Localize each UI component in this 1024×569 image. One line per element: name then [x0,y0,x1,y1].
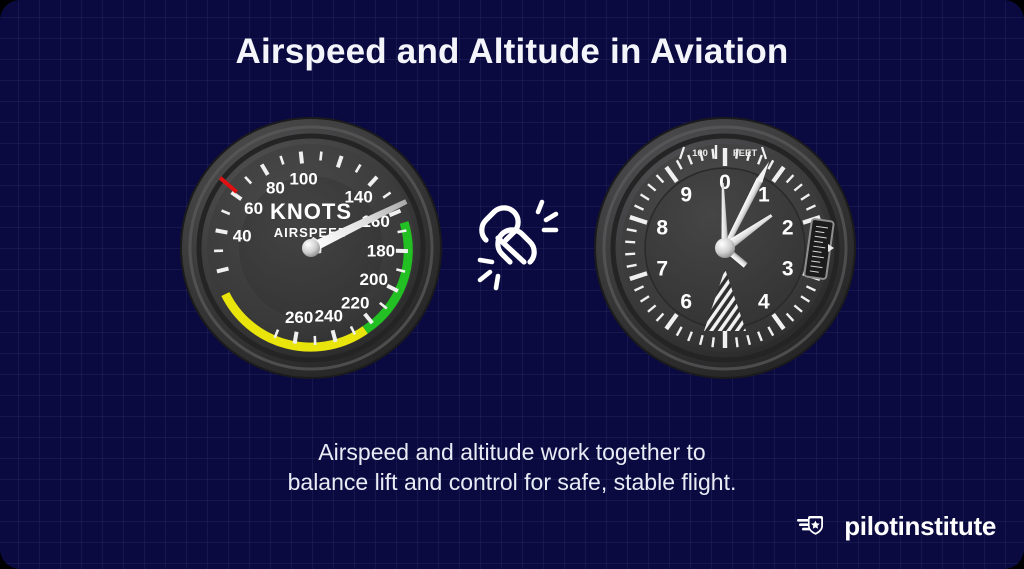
needle-hub [302,239,320,257]
caption-line-1: Airspeed and altitude work together to [0,437,1024,467]
asi-label-60: 60 [244,199,263,218]
alt-tick-24 [736,337,737,347]
caption: Airspeed and altitude work together to b… [0,437,1024,497]
tick-260 [295,332,297,344]
airspeed-indicator-gauge: 406080100140160180200220240260 KNOTS AIR… [180,117,442,379]
alt-label-8: 8 [656,217,668,240]
caption-line-2: balance lift and control for safe, stabl… [0,467,1024,497]
alt-tick-49 [712,149,713,159]
alt-label-0: 0 [719,171,731,194]
tick-170 [398,230,407,232]
asi-label-260: 260 [285,308,313,327]
alt-label-9: 9 [680,184,692,207]
asi-label-100: 100 [289,169,317,188]
alt-tick-37 [625,254,635,255]
asi-label-220: 220 [341,293,369,312]
alt-tick-38 [625,242,635,243]
asi-label-40: 40 [233,226,252,245]
unit-label-hundred: 100 [692,148,708,159]
tick-20 [217,269,229,272]
tick-100 [301,152,302,164]
altimeter-gauge: 0123456789 100 FEET [594,117,856,379]
page-title: Airspeed and Altitude in Aviation [0,32,1024,72]
asi-label-80: 80 [266,179,285,198]
alt-label-6: 6 [680,290,692,313]
broken-chain-link-icon [468,196,560,296]
alt-tick-26 [712,337,713,347]
asi-label-240: 240 [315,307,343,326]
alt-label-3: 3 [782,257,794,280]
asi-label-200: 200 [360,270,388,289]
alt-label-2: 2 [782,217,794,240]
tick-110 [320,152,321,161]
asi-label-180: 180 [367,241,395,260]
infographic-card: Airspeed and Altitude in Aviation [0,0,1024,569]
brand-logo: pilotinstitute [797,510,996,543]
unit-label-feet: FEET [733,148,757,159]
alt-label-4: 4 [758,290,770,313]
alt-label-7: 7 [656,257,668,280]
hand-hub [715,238,735,258]
brand-wordmark: pilotinstitute [844,511,996,542]
gauge-label-knots: KNOTS [270,199,352,224]
tick-40 [216,230,228,232]
winged-shield-star-logo [797,510,835,543]
